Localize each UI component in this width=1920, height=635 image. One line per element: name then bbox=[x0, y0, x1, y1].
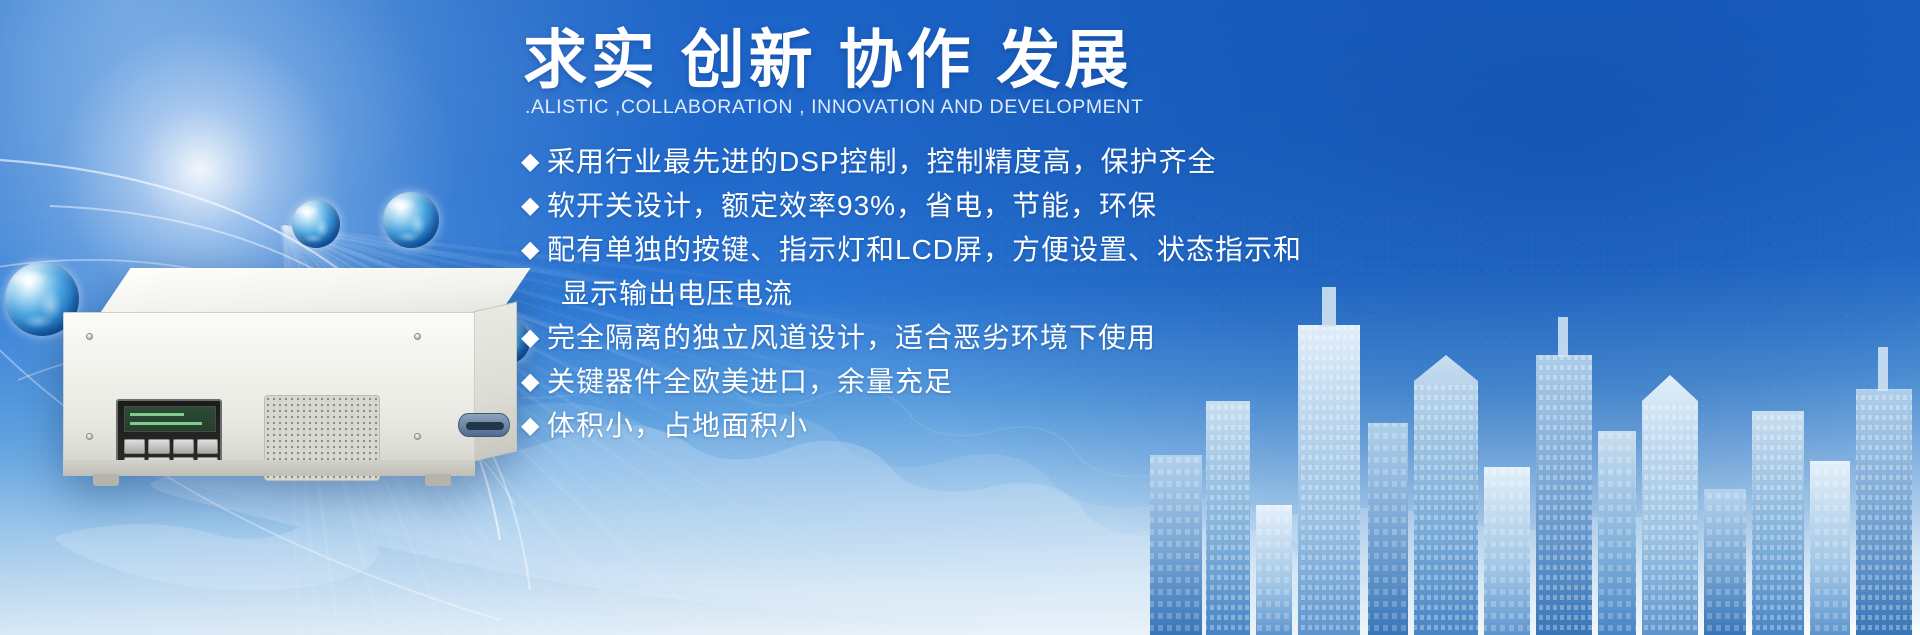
product-side-panel bbox=[471, 301, 517, 462]
screw-icon bbox=[86, 433, 93, 440]
feature-list-item: ◆配有单独的按键、指示灯和LCD屏，方便设置、状态指示和 bbox=[521, 228, 1461, 272]
globe-icon bbox=[383, 192, 439, 248]
product-front-panel bbox=[63, 312, 475, 462]
feature-list-item-label: 软开关设计，额定效率93%，省电，节能，环保 bbox=[547, 184, 1461, 228]
feature-list-item: ◆体积小，占地面积小 bbox=[521, 404, 1461, 448]
screw-icon bbox=[86, 333, 93, 340]
keypad-key bbox=[148, 439, 169, 454]
keypad-key bbox=[197, 439, 218, 454]
diamond-bullet-icon: ◆ bbox=[521, 140, 547, 184]
feature-list-item: ◆显示输出电压电流 bbox=[521, 272, 1461, 316]
feature-list-item: ◆采用行业最先进的DSP控制，控制精度高，保护齐全 bbox=[521, 140, 1461, 184]
product-bottom-edge bbox=[63, 460, 475, 476]
diamond-bullet-icon: ◆ bbox=[521, 228, 547, 272]
diamond-bullet-icon: ◆ bbox=[521, 316, 547, 360]
feature-list-item: ◆完全隔离的独立风道设计，适合恶劣环境下使用 bbox=[521, 316, 1461, 360]
screw-icon bbox=[414, 433, 421, 440]
keypad-key bbox=[124, 439, 145, 454]
feature-list-item: ◆软开关设计，额定效率93%，省电，节能，环保 bbox=[521, 184, 1461, 228]
db9-connector bbox=[458, 413, 510, 437]
feature-list-item: ◆关键器件全欧美进口，余量充足 bbox=[521, 360, 1461, 404]
product-image-power-supply bbox=[55, 268, 515, 523]
globe-icon bbox=[292, 200, 340, 248]
banner-subheadline: .ALISTIC ,COLLABORATION , INNOVATION AND… bbox=[525, 96, 1143, 119]
feature-list-item-label: 配有单独的按键、指示灯和LCD屏，方便设置、状态指示和 bbox=[547, 228, 1461, 272]
banner-headline: 求实 创新 协作 发展 bbox=[523, 24, 1132, 98]
lcd-screen bbox=[124, 406, 216, 432]
product-foot bbox=[425, 474, 451, 486]
diamond-bullet-icon: ◆ bbox=[521, 360, 547, 404]
feature-list-item-label: 体积小，占地面积小 bbox=[547, 404, 1461, 448]
lcd-text-line bbox=[130, 422, 202, 425]
banner-text-block: 求实 创新 协作 发展 .ALISTIC ,COLLABORATION , IN… bbox=[515, 0, 1515, 635]
keypad-key bbox=[173, 439, 194, 454]
screw-icon bbox=[414, 333, 421, 340]
product-foot bbox=[93, 474, 119, 486]
feature-list-item-label: 采用行业最先进的DSP控制，控制精度高，保护齐全 bbox=[547, 140, 1461, 184]
product-banner: 求实 创新 协作 发展 .ALISTIC ,COLLABORATION , IN… bbox=[0, 0, 1920, 635]
feature-list-item-label: 显示输出电压电流 bbox=[547, 272, 1461, 316]
diamond-bullet-icon: ◆ bbox=[521, 184, 547, 228]
lcd-text-line bbox=[130, 413, 184, 416]
diamond-bullet-icon: ◆ bbox=[521, 404, 547, 448]
feature-list-item-label: 关键器件全欧美进口，余量充足 bbox=[547, 360, 1461, 404]
feature-list-item-label: 完全隔离的独立风道设计，适合恶劣环境下使用 bbox=[547, 316, 1461, 360]
feature-list: ◆采用行业最先进的DSP控制，控制精度高，保护齐全◆软开关设计，额定效率93%，… bbox=[521, 140, 1461, 448]
